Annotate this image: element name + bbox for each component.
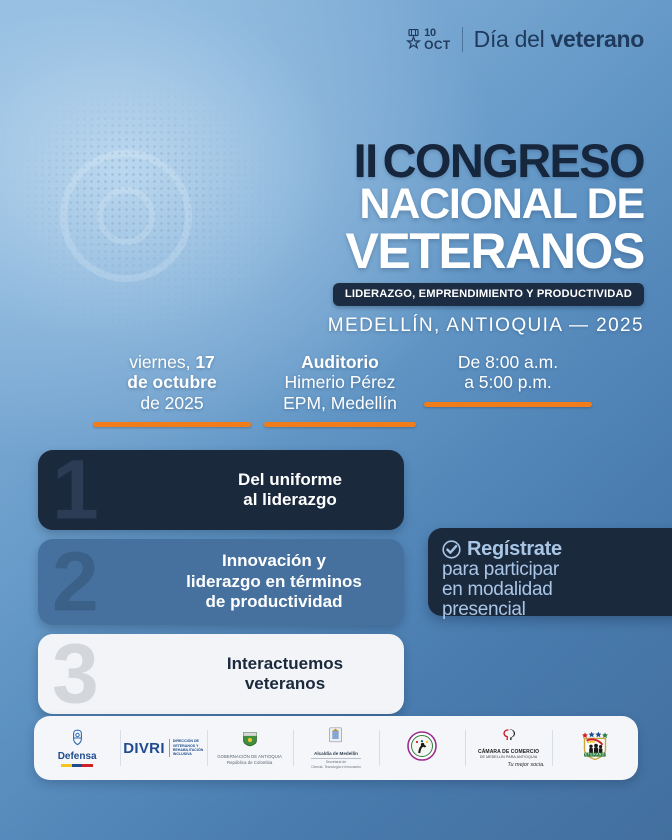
info-date-l1-bold: 17 [195, 352, 214, 372]
header-tagline-bold: veterano [551, 26, 644, 52]
header-divider [462, 27, 463, 52]
title-subtitle-badge: LIDERAZGO, EMPRENDIMIENTO Y PRODUCTIVIDA… [333, 283, 644, 306]
header-brand: 10 OCT Día del veterano [406, 26, 644, 53]
check-circle-icon [442, 540, 461, 559]
info-time-text: De 8:00 a.m. a 5:00 p.m. [458, 352, 558, 393]
antioquia-shield-icon [242, 731, 258, 752]
logo-gobernacion-antioquia: GOBERNACIÓN DE ANTIOQUIA República de Co… [207, 726, 293, 770]
agenda-label-3: Interactuemos veteranos [166, 654, 404, 695]
logo-ejercito-veteranos [379, 726, 465, 770]
logo-divri-label: DIVRI [123, 740, 165, 757]
info-date-l3: de 2025 [140, 393, 203, 413]
cta-line-3: en modalidad [442, 579, 552, 600]
agenda-2-line3: de productividad [206, 592, 343, 611]
event-info-row: viernes, 17 de octubre de 2025 Auditorio… [96, 352, 584, 427]
halftone-map-texture-dark [0, 52, 320, 342]
title-roman-numeral: II [354, 134, 377, 187]
veteranos-shield-icon: VETERANOS [578, 730, 612, 767]
agenda-2-line2: liderazgo en términos [186, 572, 362, 591]
ejercito-seal-icon [407, 731, 437, 766]
register-cta-panel[interactable]: Regístrate para participar en modalidad … [428, 528, 672, 616]
logo-camara-comercio: CÁMARA DE COMERCIO DE MEDELLÍN PARA ANTI… [465, 726, 551, 770]
agenda-number-3: 3 [52, 640, 99, 707]
info-column-time: De 8:00 a.m. a 5:00 p.m. [432, 352, 584, 427]
agenda-card-3[interactable]: 3 Interactuemos veteranos [38, 634, 404, 714]
info-venue-l1: Auditorio [301, 352, 379, 372]
info-time-l2: a 5:00 p.m. [464, 372, 552, 392]
header-date: 10 OCT [424, 28, 451, 51]
divri-lockup: DIVRI DIRECCIÓN DE VETERANOS Y REHABILIT… [123, 739, 203, 757]
logo-gobernacion-label: GOBERNACIÓN DE ANTIOQUIA República de Co… [217, 754, 282, 765]
agenda-number-1: 1 [52, 456, 99, 523]
info-venue-l2: Himerio Pérez [285, 372, 396, 392]
agenda-3-line1: Interactuemos [227, 654, 343, 673]
info-column-venue: Auditorio Himerio Pérez EPM, Medellín [264, 352, 416, 427]
logo-alcaldia-title: Alcaldía de Medellín [314, 751, 358, 756]
logo-alcaldia-label: Alcaldía de Medellín Secretaría de Cienc… [311, 751, 361, 770]
logo-veteranos-shield: VETERANOS [552, 726, 638, 770]
header-tagline-thin: Día del [474, 26, 551, 52]
agenda-number-2: 2 [52, 548, 99, 615]
cta-title: Regístrate [467, 539, 562, 559]
info-venue-l3: EPM, Medellín [283, 393, 397, 413]
sponsor-logo-bar: Defensa DIVRI DIRECCIÓN DE VETERANOS Y R… [34, 716, 638, 780]
header-tagline: Día del veterano [474, 26, 644, 53]
agenda-3-line2: veteranos [245, 674, 325, 693]
veteranos-shield-text: VETERANOS [582, 752, 608, 756]
agenda-card-1[interactable]: 1 Del uniforme al liderazgo [38, 450, 404, 530]
header-month: OCT [424, 39, 451, 51]
agenda-1-line2: al liderazgo [243, 490, 337, 509]
logo-defensa-label: Defensa [58, 751, 97, 762]
cta-line-2: para participar [442, 559, 559, 580]
logo-gobernacion-sub: República de Colombia [227, 760, 272, 765]
agenda-label-2: Innovación y liderazgo en términos de pr… [144, 551, 404, 612]
title-line-3: VETERANOS [328, 226, 644, 276]
camara-comercio-mark-icon [500, 728, 517, 747]
title-line-1: IICONGRESO [328, 138, 644, 183]
title-location: MEDELLÍN, ANTIOQUIA — 2025 [328, 315, 644, 337]
info-underline-venue [264, 422, 416, 427]
title-congreso: CONGRESO [383, 134, 644, 187]
info-date-l1-plain: viernes, [129, 352, 195, 372]
title-block: IICONGRESO NACIONAL DE VETERANOS LIDERAZ… [328, 138, 644, 337]
info-underline-date [93, 422, 251, 427]
cta-header: Regístrate [442, 539, 672, 559]
cta-subtitle: para participar en modalidad presencial [442, 560, 672, 620]
logo-defensa: Defensa [34, 726, 120, 770]
medellin-crest-icon [328, 727, 343, 749]
logo-divri: DIVRI DIRECCIÓN DE VETERANOS Y REHABILIT… [120, 726, 206, 770]
logo-camara-title: CÁMARA DE COMERCIO [478, 749, 539, 755]
info-date-text: viernes, 17 de octubre de 2025 [127, 352, 216, 413]
info-venue-text: Auditorio Himerio Pérez EPM, Medellín [283, 352, 397, 413]
info-column-date: viernes, 17 de octubre de 2025 [96, 352, 248, 427]
agenda-list: 1 Del uniforme al liderazgo 2 Innovación… [38, 450, 404, 723]
halftone-map-texture [0, 52, 320, 342]
colombia-coat-of-arms-icon [69, 729, 86, 751]
cta-line-4: presencial [442, 599, 526, 620]
colombia-flag-bar-icon [61, 764, 93, 767]
logo-alcaldia-medellin: Alcaldía de Medellín Secretaría de Cienc… [293, 726, 379, 770]
poster-canvas: 10 OCT Día del veterano IICONGRESO NACIO… [0, 0, 672, 840]
logo-camara-slogan: Tu mejor socia. [508, 762, 545, 768]
agenda-2-line1: Innovación y [222, 551, 326, 570]
logo-alcaldia-sub2: Ciencia, Tecnología e Innovación [311, 764, 361, 769]
info-underline-time [424, 402, 591, 407]
logo-divri-sublabel: DIRECCIÓN DE VETERANOS Y REHABILITACIÓN … [169, 739, 204, 757]
info-date-l2: de octubre [127, 372, 216, 392]
info-time-l1: De 8:00 a.m. [458, 352, 558, 372]
agenda-card-2[interactable]: 2 Innovación y liderazgo en términos de … [38, 539, 404, 625]
logo-gobernacion-title: GOBERNACIÓN DE ANTIOQUIA [217, 754, 282, 759]
agenda-1-line1: Del uniforme [238, 470, 342, 489]
agenda-label-1: Del uniforme al liderazgo [176, 470, 404, 511]
medal-icon [406, 29, 421, 50]
logo-camara-label: CÁMARA DE COMERCIO DE MEDELLÍN PARA ANTI… [478, 749, 539, 760]
title-line-2: NACIONAL DE [328, 183, 644, 226]
medal-date-block: 10 OCT [406, 28, 451, 51]
logo-camara-sub: DE MEDELLÍN PARA ANTIOQUIA [478, 755, 539, 759]
emblem-watermark-icon [60, 150, 192, 282]
